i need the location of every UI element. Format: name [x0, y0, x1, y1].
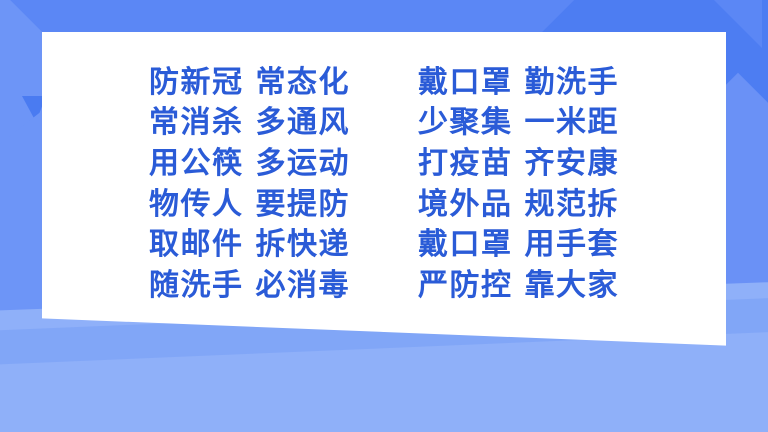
slogan-line: 打疫苗 齐安康	[418, 144, 619, 184]
slogan-line: 防新冠 常态化	[149, 63, 350, 103]
slogan-line: 戴口罩 勤洗手	[418, 63, 619, 103]
slogan-line: 戴口罩 用手套	[418, 225, 619, 265]
slogan-line: 取邮件 拆快递	[149, 225, 350, 265]
slogan-line: 少聚集 一米距	[418, 103, 619, 143]
slogan-line: 常消杀 多通风	[149, 103, 350, 143]
slogan-column-right: 戴口罩 勤洗手 少聚集 一米距 打疫苗 齐安康 境外品 规范拆 戴口罩 用手套 …	[418, 63, 619, 306]
poster-canvas: 防新冠 常态化 常消杀 多通风 用公筷 多运动 物传人 要提防 取邮件 拆快递 …	[0, 0, 768, 432]
slogan-line: 用公筷 多运动	[149, 144, 350, 184]
slogan-text-area: 防新冠 常态化 常消杀 多通风 用公筷 多运动 物传人 要提防 取邮件 拆快递 …	[42, 32, 726, 322]
slogan-column-left: 防新冠 常态化 常消杀 多通风 用公筷 多运动 物传人 要提防 取邮件 拆快递 …	[149, 63, 350, 306]
slogan-line: 境外品 规范拆	[418, 185, 619, 225]
slogan-line: 严防控 靠大家	[418, 266, 619, 306]
slogan-line: 物传人 要提防	[149, 185, 350, 225]
slogan-line: 随洗手 必消毒	[149, 266, 350, 306]
